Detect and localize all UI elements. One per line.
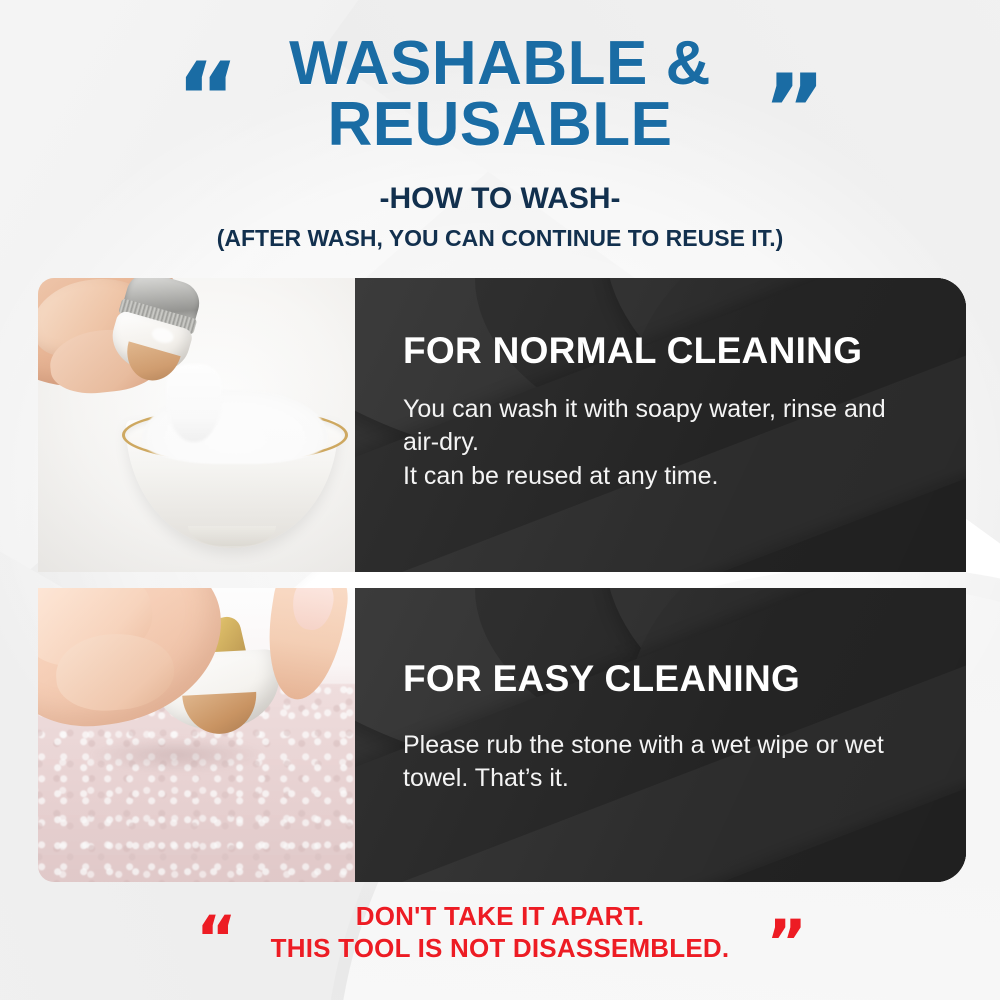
photo-overlay [38,588,355,882]
title-row: “ WASHABLE & REUSABLE ” [0,34,1000,156]
panel-normal-cleaning: FOR NORMAL CLEANING You can wash it with… [355,278,966,572]
photo-soapy-water [38,278,355,572]
subtitle-reuse-note: (AFTER WASH, YOU CAN CONTINUE TO REUSE I… [0,225,1000,252]
card-body: You can wash it with soapy water, rinse … [403,393,926,494]
card-body: Please rub the stone with a wet wipe or … [403,729,926,796]
footer-warning: “ DON'T TAKE IT APART. THIS TOOL IS NOT … [0,900,1000,964]
warning-line-1: DON'T TAKE IT APART. [271,900,730,932]
card-easy-cleaning: FOR EASY CLEANING Please rub the stone w… [38,588,966,882]
card-normal-cleaning: FOR NORMAL CLEANING You can wash it with… [38,278,966,572]
quote-close-icon: ” [763,62,822,158]
quote-open-icon: “ [176,50,235,146]
subtitle-how-to-wash: -HOW TO WASH- [0,182,1000,216]
quote-close-icon: ” [766,912,804,974]
card-heading: FOR EASY CLEANING [403,660,926,699]
warning-text-block: DON'T TAKE IT APART. THIS TOOL IS NOT DI… [271,900,730,964]
panel-content: FOR EASY CLEANING Please rub the stone w… [355,588,966,796]
quote-open-icon: “ [196,908,234,970]
card-heading: FOR NORMAL CLEANING [403,332,926,371]
warning-line-2: THIS TOOL IS NOT DISASSEMBLED. [271,932,730,964]
header: “ WASHABLE & REUSABLE ” -HOW TO WASH- (A… [0,34,1000,252]
photo-wet-towel [38,588,355,882]
photo-overlay [38,278,355,572]
panel-easy-cleaning: FOR EASY CLEANING Please rub the stone w… [355,588,966,882]
panel-content: FOR NORMAL CLEANING You can wash it with… [355,278,966,493]
page-title: WASHABLE & REUSABLE [0,34,1000,156]
infographic-canvas: “ WASHABLE & REUSABLE ” -HOW TO WASH- (A… [0,0,1000,1000]
